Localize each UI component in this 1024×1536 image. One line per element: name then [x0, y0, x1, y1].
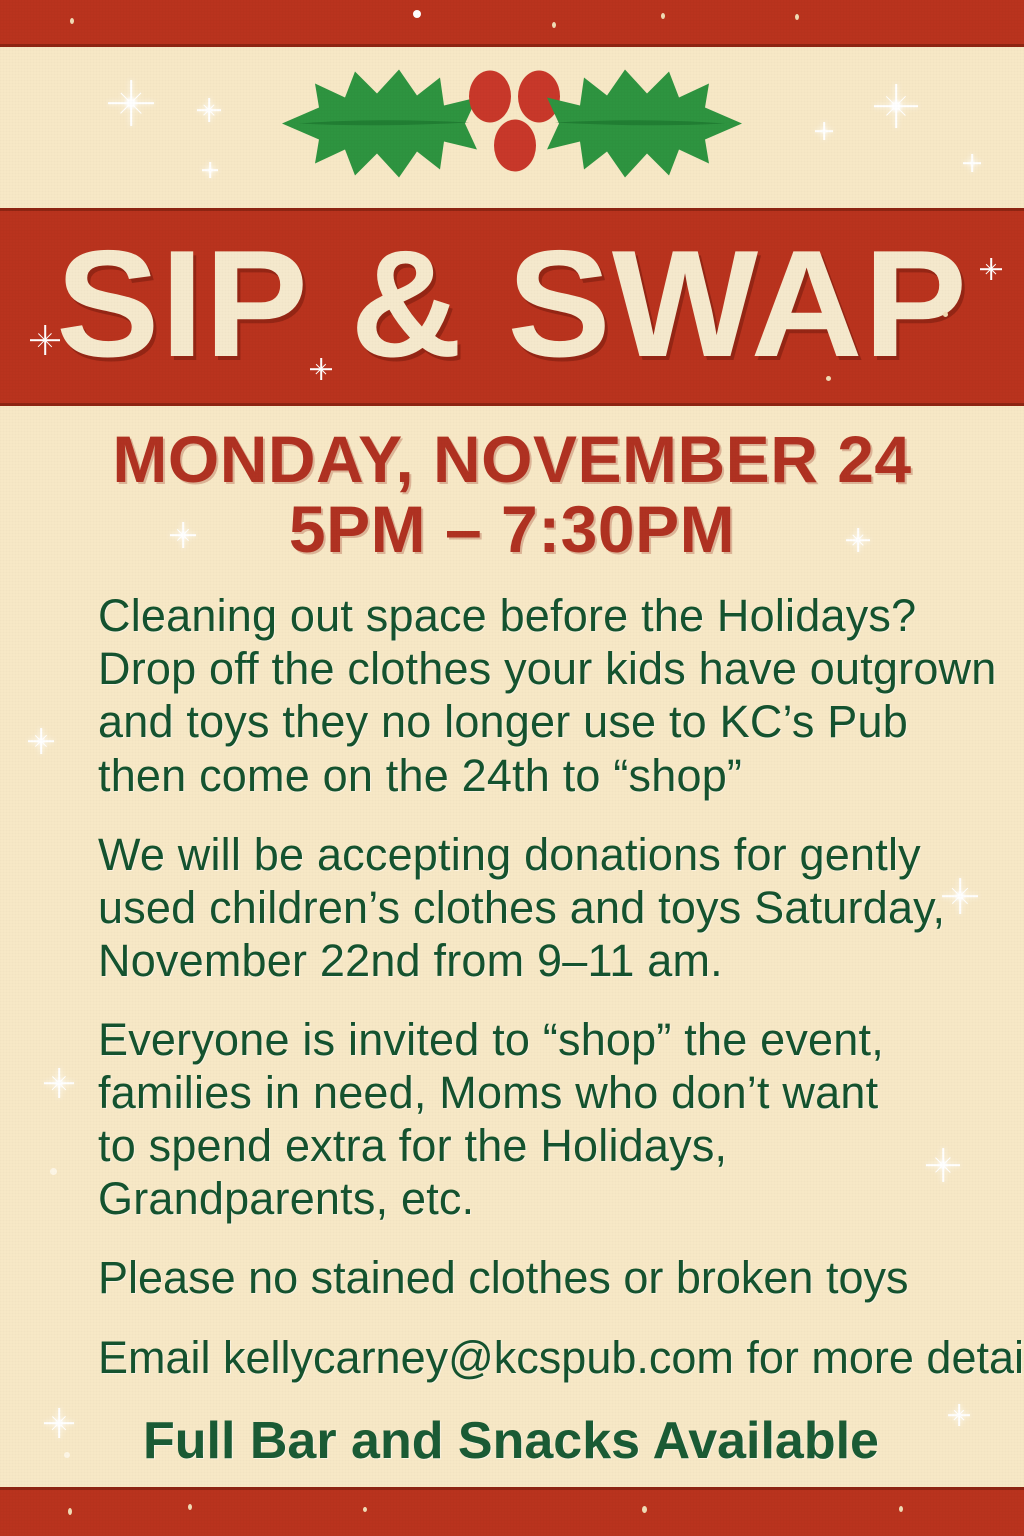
holiday-event-flyer: SIP & SWAP MONDAY, NOVEMBER 24 5PM – 7:3… [0, 0, 1024, 1536]
event-date-block: MONDAY, NOVEMBER 24 5PM – 7:30PM [0, 400, 1024, 567]
event-date: MONDAY, NOVEMBER 24 [0, 426, 1024, 493]
sparkle-icon [815, 122, 833, 140]
event-description: Cleaning out space before the Holidays? … [0, 567, 1024, 1471]
text-line: Drop off the clothes your kids have outg… [98, 642, 984, 695]
text-line: to spend extra for the Holidays, [98, 1119, 984, 1172]
text-line: families in need, Moms who don’t want [98, 1066, 984, 1119]
closing-line: Full Bar and Snacks Available [98, 1411, 984, 1471]
holly-leaf-right [547, 70, 742, 178]
holly-leaf-left [282, 70, 477, 178]
main-content: MONDAY, NOVEMBER 24 5PM – 7:30PM Cleanin… [0, 400, 1024, 1471]
bottom-border-band [0, 1487, 1024, 1536]
text-line: then come on the 24th to “shop” [98, 749, 984, 802]
paragraph-intro: Cleaning out space before the Holidays? … [98, 589, 984, 801]
title-banner: SIP & SWAP [0, 208, 1024, 406]
top-border-band [0, 0, 1024, 47]
sparkle-icon [108, 80, 154, 126]
text-line: We will be accepting donations for gentl… [98, 828, 984, 881]
sparkle-icon [197, 98, 221, 122]
text-line: used children’s clothes and toys Saturda… [98, 881, 984, 934]
holly-decoration-strip [0, 44, 1024, 208]
text-line: and toys they no longer use to KC’s Pub [98, 695, 984, 748]
sparkle-icon [874, 84, 918, 128]
text-line: Grandparents, etc. [98, 1172, 984, 1225]
event-time: 5PM – 7:30PM [0, 493, 1024, 567]
paragraph-invitation: Everyone is invited to “shop” the event,… [98, 1013, 984, 1225]
holly-sprig-icon [277, 64, 747, 189]
text-line: Everyone is invited to “shop” the event, [98, 1013, 984, 1066]
paragraph-donations: We will be accepting donations for gentl… [98, 828, 984, 987]
condition-note: Please no stained clothes or broken toys [98, 1251, 984, 1305]
text-line: November 22nd from 9–11 am. [98, 934, 984, 987]
holly-berries [469, 71, 560, 172]
text-line: Cleaning out space before the Holidays? [98, 589, 984, 642]
sparkle-icon [963, 154, 981, 172]
sparkle-icon [202, 162, 218, 178]
contact-line[interactable]: Email kellycarney@kcspub.com for more de… [98, 1331, 984, 1385]
page-title: SIP & SWAP [56, 228, 968, 380]
